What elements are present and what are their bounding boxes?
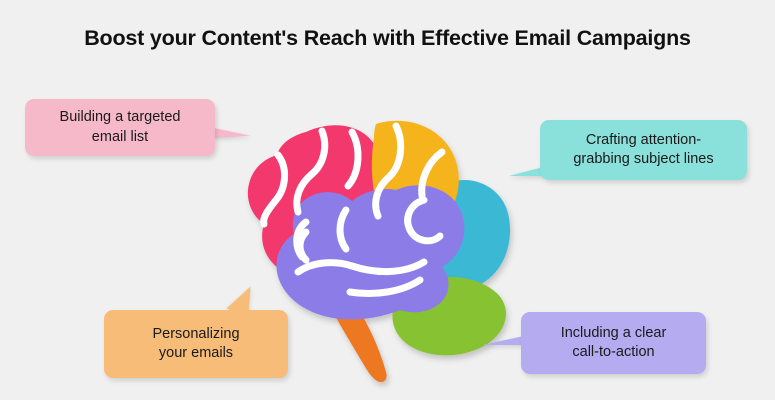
callout-text-targeted-list: Building a targeted email list	[35, 108, 205, 147]
callout-line-1: Including a clear	[561, 325, 667, 341]
callout-tail-subject-lines	[509, 158, 543, 176]
callout-line-2: email list	[92, 129, 148, 145]
callout-tail-cta	[482, 327, 524, 345]
callout-targeted-list[interactable]: Building a targeted email list	[25, 99, 215, 156]
callout-text-cta: Including a clear call-to-action	[531, 324, 696, 363]
callout-line-1: Building a targeted	[60, 109, 181, 125]
callout-line-1: Crafting attention-	[586, 132, 701, 148]
infographic-canvas: Boost your Content's Reach with Effectiv…	[0, 0, 775, 400]
page-title: Boost your Content's Reach with Effectiv…	[0, 26, 775, 51]
callout-line-2: your emails	[159, 345, 233, 361]
callout-cta[interactable]: Including a clear call-to-action	[521, 312, 706, 374]
callout-subject-lines[interactable]: Crafting attention- grabbing subject lin…	[540, 120, 747, 180]
callout-line-2: grabbing subject lines	[573, 151, 713, 167]
callout-line-1: Personalizing	[152, 326, 239, 342]
callout-text-personalizing: Personalizing your emails	[114, 325, 278, 364]
callout-personalizing[interactable]: Personalizing your emails	[104, 310, 288, 378]
callout-text-subject-lines: Crafting attention- grabbing subject lin…	[550, 131, 737, 170]
callout-line-2: call-to-action	[572, 344, 654, 360]
